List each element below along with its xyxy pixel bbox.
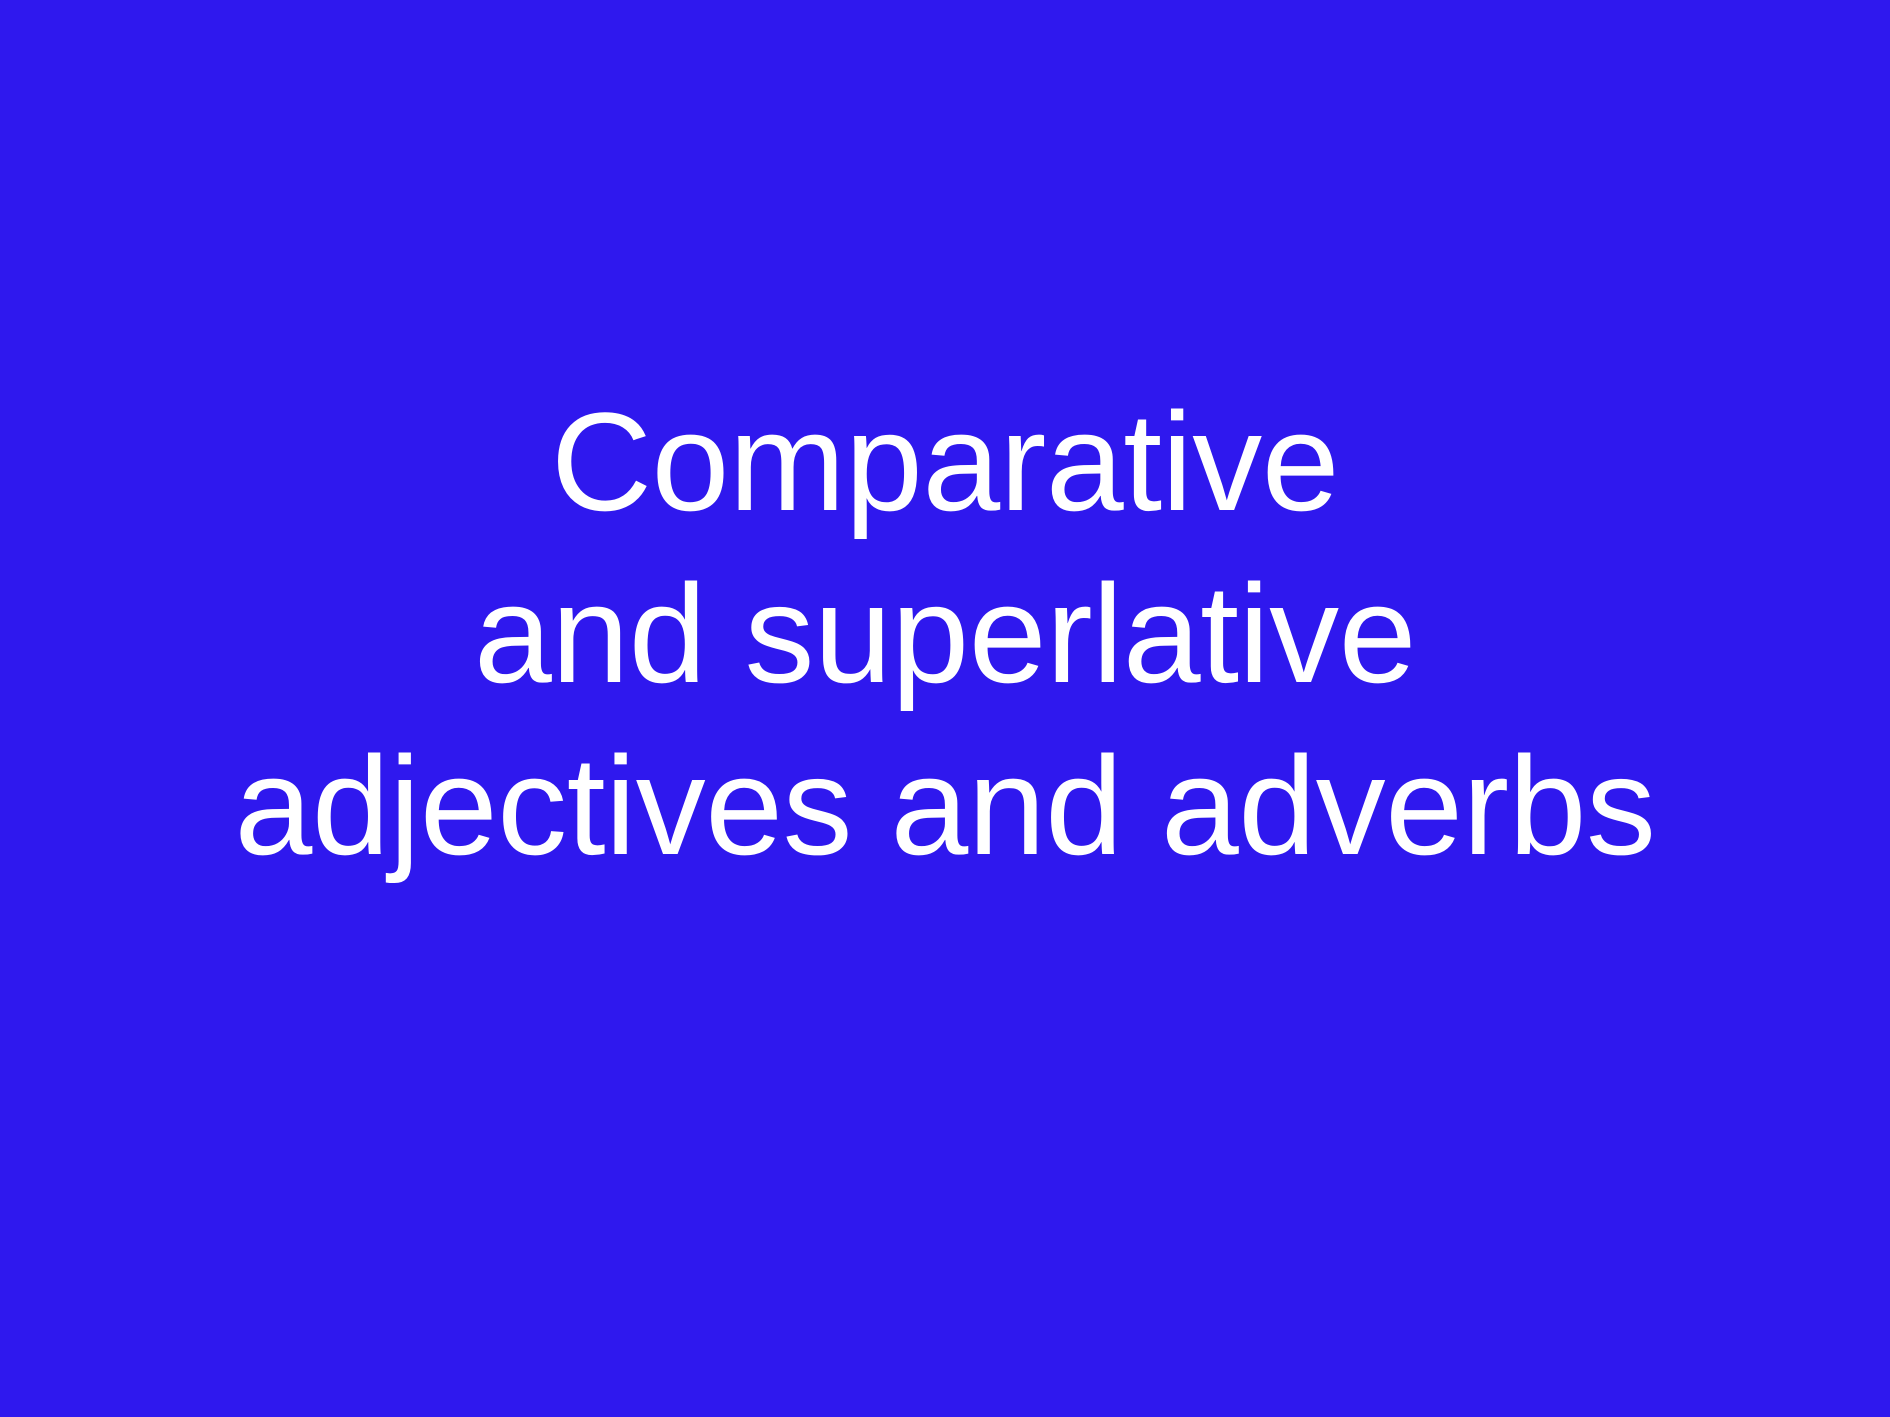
slide-title-line-2: and superlative	[0, 548, 1890, 720]
slide-title-line-1: Comparative	[0, 376, 1890, 548]
slide-title: Comparative and superlative adjectives a…	[0, 376, 1890, 892]
slide-title-line-3: adjectives and adverbs	[0, 720, 1890, 892]
presentation-slide: Comparative and superlative adjectives a…	[0, 0, 1890, 1417]
